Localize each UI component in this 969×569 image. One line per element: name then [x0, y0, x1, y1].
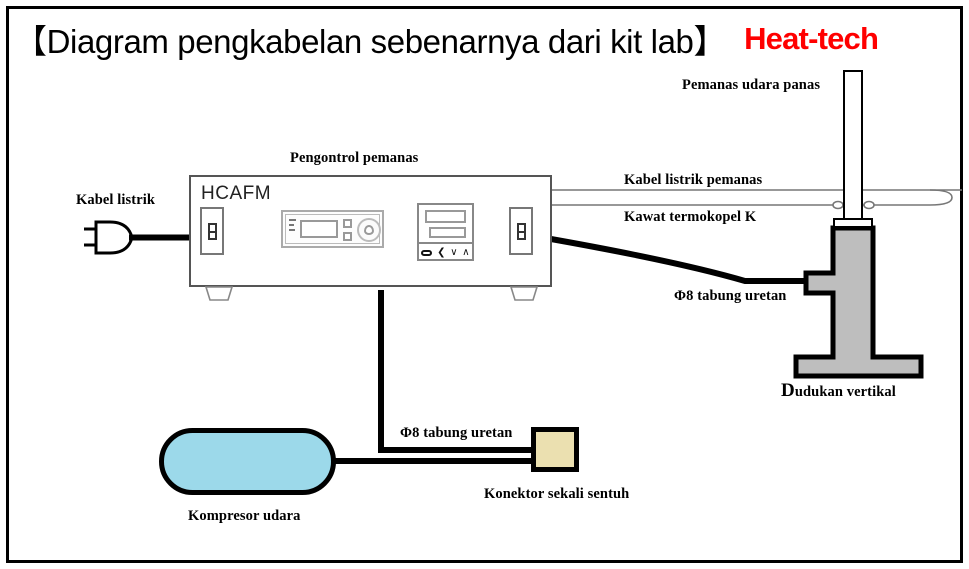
label-vertical-stand-cap: D: [781, 380, 795, 401]
label-vertical-stand: Dudukan vertikal: [781, 380, 896, 402]
flow-display-screen: [300, 220, 338, 238]
label-one-touch-connector: Konektor sekali sentuh: [484, 486, 629, 503]
temperature-controller-panel[interactable]: ❮ ∨ ∧: [417, 203, 474, 261]
label-vertical-stand-rest: udukan vertikal: [795, 384, 896, 400]
heater-outlet-socket[interactable]: [509, 207, 533, 255]
page-title-text: 【Diagram pengkabelan sebenarnya dari kit…: [14, 15, 726, 63]
label-hot-air-heater: Pemanas udara panas: [682, 77, 820, 94]
label-power-cable: Kabel listrik: [76, 192, 155, 209]
page-title: 【Diagram pengkabelan sebenarnya dari kit…: [14, 16, 954, 62]
temp-readout-pv: [425, 210, 466, 223]
label-urethane-tube-bottom: Φ8 tabung uretan: [400, 425, 512, 442]
air-compressor: [159, 428, 336, 495]
heater-clamp: [833, 218, 873, 228]
flow-display-module[interactable]: [281, 210, 384, 248]
power-inlet-socket[interactable]: [200, 207, 224, 255]
down-key-icon[interactable]: ∨: [450, 248, 457, 258]
hot-air-heater: [843, 70, 863, 222]
one-touch-connector: [531, 427, 579, 472]
label-urethane-tube-right: Φ8 tabung uretan: [674, 288, 786, 305]
controller-model-label: HCAFM: [201, 183, 271, 205]
back-key-icon[interactable]: ❮: [437, 248, 445, 258]
temp-controller-keys: ❮ ∨ ∧: [419, 242, 472, 261]
label-heater-power-cable: Kabel listrik pemanas: [624, 172, 762, 189]
module-button-lower[interactable]: [343, 232, 352, 241]
label-air-compressor: Kompresor udara: [188, 508, 301, 525]
scale-ticks-icon: [289, 219, 296, 239]
module-button-upper[interactable]: [343, 219, 352, 228]
flow-adjust-knob[interactable]: [357, 218, 381, 242]
socket-glyph: [208, 223, 217, 240]
up-key-icon[interactable]: ∧: [462, 248, 469, 258]
brand-logo: Heat-tech: [744, 21, 878, 57]
socket-glyph: [517, 223, 526, 240]
diagram-canvas: 【Diagram pengkabelan sebenarnya dari kit…: [0, 0, 969, 569]
temp-readout-sv: [429, 227, 466, 238]
mode-key-icon[interactable]: [421, 250, 432, 256]
label-heater-controller: Pengontrol pemanas: [290, 150, 418, 167]
label-thermocouple-wire: Kawat termokopel K: [624, 209, 756, 226]
